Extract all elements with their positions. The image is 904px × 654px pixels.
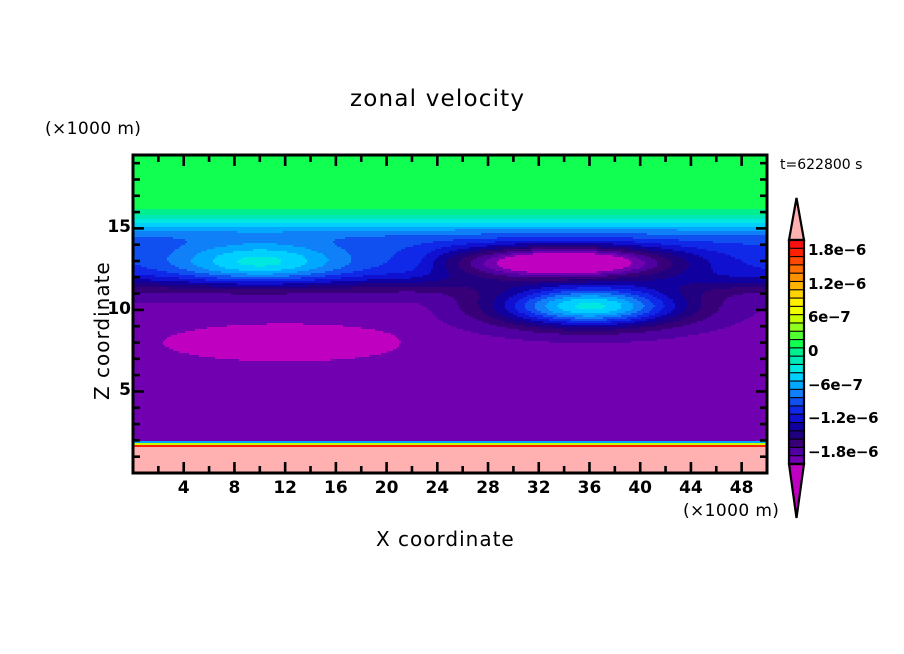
x-tick-label: 8 [214,478,254,498]
colorbar-tick-label: 1.8e−6 [808,241,866,259]
colorbar-tick-label: −1.2e−6 [808,409,878,427]
y-tick-label: 15 [107,217,131,237]
x-tick-label: 32 [519,478,559,498]
colorbar-tick-label: 0 [808,342,818,360]
chart-title: zonal velocity [350,86,525,112]
x-tick-label: 40 [620,478,660,498]
x-tick-label: 44 [671,478,711,498]
colorbar-tick-label: −1.8e−6 [808,443,878,461]
colorbar-tick-label: 6e−7 [808,308,850,326]
colorbar-tick-labels: 1.8e−61.2e−66e−70−6e−7−1.2e−6−1.8e−6 [808,196,904,526]
x-tick-label: 48 [722,478,762,498]
x-tick-label: 20 [367,478,407,498]
x-tick-label: 36 [569,478,609,498]
x-tick-label: 28 [468,478,508,498]
y-tick-label: 5 [119,380,131,400]
y-axis-unit-label: (×1000 m) [45,119,141,139]
y-tick-label: 10 [107,299,131,319]
x-tick-label: 12 [265,478,305,498]
x-axis-unit-label: (×1000 m) [683,501,779,521]
x-axis-title: X coordinate [376,527,515,551]
x-tick-label: 24 [417,478,457,498]
x-tick-label: 16 [316,478,356,498]
y-tick-labels: 51015 [93,155,131,473]
timestamp-label: t=622800 s [780,157,862,173]
x-tick-label: 4 [164,478,204,498]
x-tick-labels: 4812162024283236404448 [133,478,767,504]
axis-frame [120,142,790,502]
colorbar-tick-label: −6e−7 [808,376,863,394]
colorbar-tick-label: 1.2e−6 [808,275,866,293]
figure-canvas: zonal velocity (×1000 m) Z coordinate X … [0,0,904,654]
